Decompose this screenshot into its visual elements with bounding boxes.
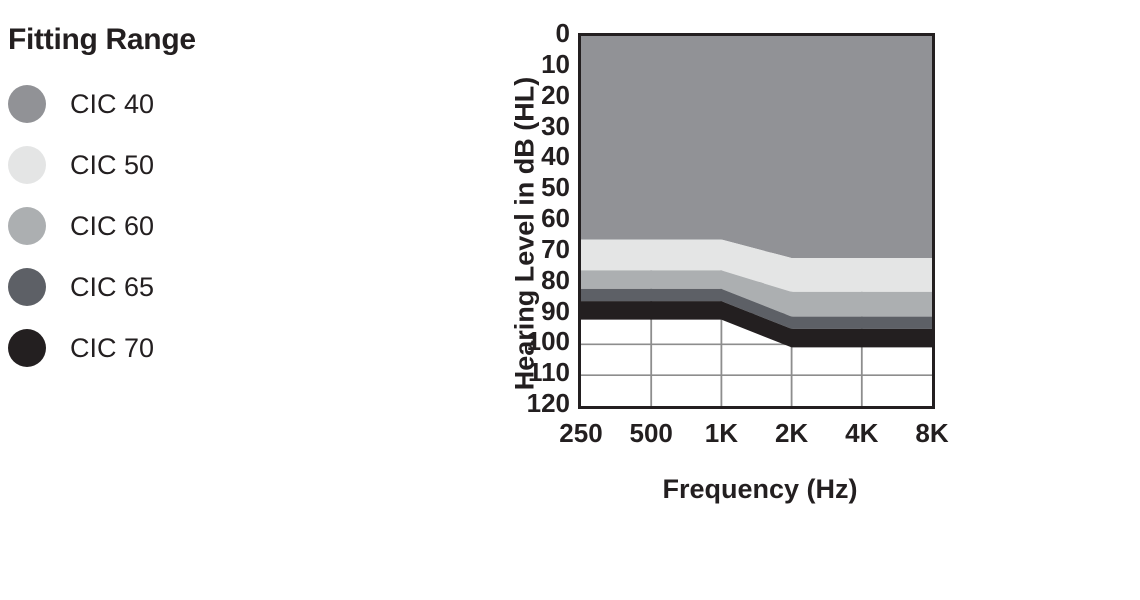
y-axis-tick-label: 0 xyxy=(490,20,570,46)
y-axis-tick-label: 110 xyxy=(490,359,570,385)
y-axis-tick-label: 10 xyxy=(490,51,570,77)
legend-item: CIC 65 xyxy=(8,257,308,318)
legend-item: CIC 70 xyxy=(8,318,308,379)
fitting-range-band xyxy=(581,36,932,258)
y-axis-tick-label: 70 xyxy=(490,236,570,262)
x-axis-tick-labels: 2505001K2K4K8K xyxy=(578,420,935,454)
legend-swatch-icon xyxy=(8,268,46,306)
audiogram-chart: Hearing Level in dB (HL) 010203040506070… xyxy=(430,0,990,520)
band-group xyxy=(581,36,932,347)
plot-area xyxy=(578,33,935,409)
y-axis-tick-label: 40 xyxy=(490,143,570,169)
y-axis-tick-label: 20 xyxy=(490,82,570,108)
legend-item-label: CIC 50 xyxy=(70,152,154,179)
legend-swatch-icon xyxy=(8,85,46,123)
legend-title: Fitting Range xyxy=(8,24,308,56)
legend-item-label: CIC 70 xyxy=(70,335,154,362)
legend-item: CIC 50 xyxy=(8,135,308,196)
x-axis-title: Frequency (Hz) xyxy=(550,474,970,505)
y-axis-tick-label: 90 xyxy=(490,298,570,324)
legend-swatch-icon xyxy=(8,146,46,184)
y-axis-tick-label: 80 xyxy=(490,267,570,293)
y-axis-tick-label: 30 xyxy=(490,113,570,139)
legend-item-list: CIC 40CIC 50CIC 60CIC 65CIC 70 xyxy=(8,74,308,379)
y-axis-tick-label: 50 xyxy=(490,174,570,200)
y-axis-tick-label: 100 xyxy=(490,328,570,354)
legend-item-label: CIC 40 xyxy=(70,91,154,118)
fitting-range-bands xyxy=(581,36,932,406)
y-axis-tick-label: 60 xyxy=(490,205,570,231)
legend-panel: Fitting Range CIC 40CIC 50CIC 60CIC 65CI… xyxy=(8,24,308,379)
legend-swatch-icon xyxy=(8,329,46,367)
legend-item-label: CIC 65 xyxy=(70,274,154,301)
legend-swatch-icon xyxy=(8,207,46,245)
y-axis-tick-label: 120 xyxy=(490,390,570,416)
legend-item: CIC 40 xyxy=(8,74,308,135)
y-axis-tick-labels: 0102030405060708090100110120 xyxy=(490,33,570,403)
legend-item: CIC 60 xyxy=(8,196,308,257)
legend-item-label: CIC 60 xyxy=(70,213,154,240)
x-axis-tick-label: 8K xyxy=(887,420,977,446)
